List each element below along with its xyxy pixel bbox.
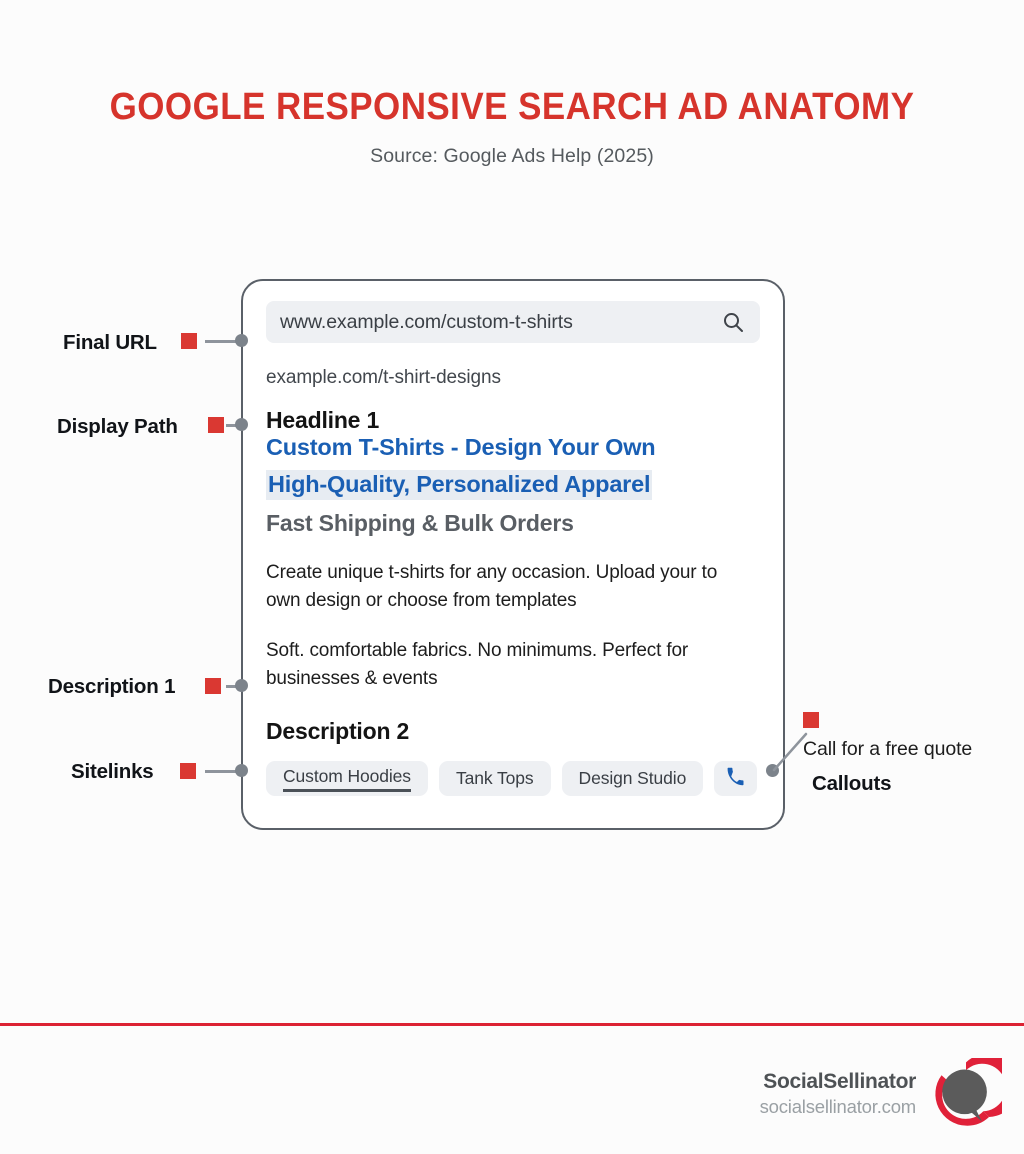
sitelink-chip-design-studio[interactable]: Design Studio bbox=[562, 761, 704, 796]
call-button[interactable] bbox=[714, 761, 757, 796]
display-path-text: example.com/t-shirt-designs bbox=[266, 367, 760, 389]
annotation-label-description-1: Description 1 bbox=[48, 675, 175, 699]
description-1-text: Create unique t-shirts for any occasion.… bbox=[266, 559, 748, 615]
headline-1-label: Headline 1 bbox=[266, 407, 760, 434]
connector-dot-sitelinks bbox=[235, 764, 248, 777]
marker-square-display-path bbox=[208, 417, 224, 433]
sitelink-chip-tank-tops[interactable]: Tank Tops bbox=[439, 761, 551, 796]
sitelink-label: Custom Hoodies bbox=[283, 766, 411, 792]
headline-2-text[interactable]: High-Quality, Personalized Apparel bbox=[266, 470, 652, 500]
marker-square-final-url bbox=[181, 333, 197, 349]
marker-square-sitelinks bbox=[180, 763, 196, 779]
footer-text-block: SocialSellinator socialsellinator.com bbox=[760, 1069, 916, 1119]
sitelink-label: Design Studio bbox=[579, 768, 687, 789]
phone-icon bbox=[726, 767, 745, 791]
headline-1-text[interactable]: Custom T-Shirts - Design Your Own bbox=[266, 434, 655, 460]
connector-dot-description-1 bbox=[235, 679, 248, 692]
socialsellinator-logo-icon bbox=[930, 1058, 1002, 1130]
marker-square-callouts bbox=[803, 712, 819, 728]
brand-url: socialsellinator.com bbox=[760, 1095, 916, 1119]
sitelink-chip-custom-hoodies[interactable]: Custom Hoodies bbox=[266, 761, 428, 796]
search-url-text: www.example.com/custom-t-shirts bbox=[280, 311, 720, 334]
callout-value-text: Call for a free quote bbox=[803, 738, 972, 761]
search-icon[interactable] bbox=[720, 309, 746, 335]
description-2-label: Description 2 bbox=[266, 718, 760, 745]
search-bar[interactable]: www.example.com/custom-t-shirts bbox=[266, 301, 760, 343]
marker-square-description-1 bbox=[205, 678, 221, 694]
footer: SocialSellinator socialsellinator.com bbox=[760, 1058, 1002, 1130]
description-2-text: Soft. comfortable fabrics. No minimums. … bbox=[266, 637, 748, 693]
annotation-label-final-url: Final URL bbox=[63, 331, 157, 355]
diagram-area: www.example.com/custom-t-shirts example.… bbox=[0, 0, 1024, 1020]
headline-3-text: Fast Shipping & Bulk Orders bbox=[266, 510, 760, 537]
sitelinks-row: Custom Hoodies Tank Tops Design Studio bbox=[266, 761, 760, 796]
sitelink-label: Tank Tops bbox=[456, 768, 534, 789]
brand-name: SocialSellinator bbox=[760, 1069, 916, 1095]
headline-1-row: Custom T-Shirts - Design Your Own bbox=[266, 434, 760, 461]
footer-divider bbox=[0, 1023, 1024, 1026]
annotation-label-display-path: Display Path bbox=[57, 415, 178, 439]
annotation-label-sitelinks: Sitelinks bbox=[71, 760, 154, 784]
headline-2-row: High-Quality, Personalized Apparel bbox=[266, 461, 760, 500]
connector-dot-final-url bbox=[235, 334, 248, 347]
connector-dot-display-path bbox=[235, 418, 248, 431]
annotation-label-callouts: Callouts bbox=[812, 772, 891, 796]
ad-preview-card: www.example.com/custom-t-shirts example.… bbox=[241, 279, 785, 830]
